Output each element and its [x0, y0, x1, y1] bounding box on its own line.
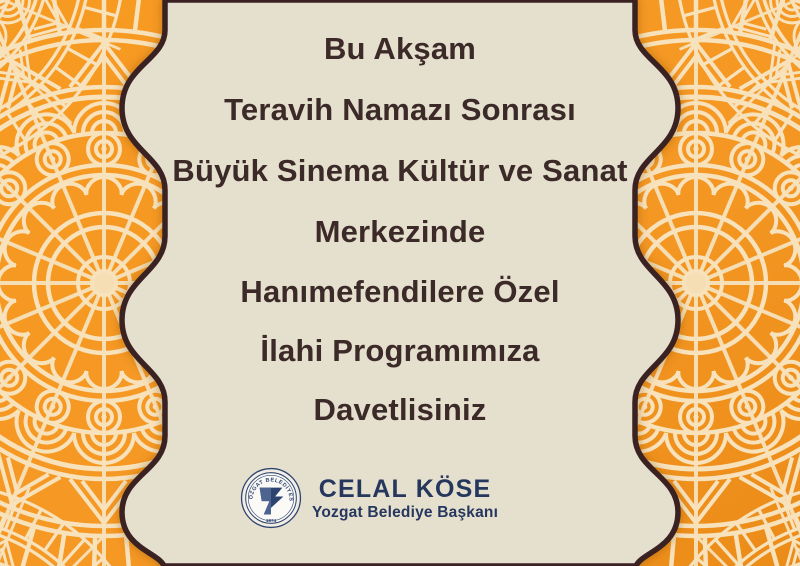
signature-name: CELAL KÖSE: [319, 476, 492, 502]
message-line-1: Bu Akşam: [110, 33, 690, 64]
poster-canvas: Bu Akşam Teravih Namazı Sonrası Büyük Si…: [0, 0, 800, 566]
message-content: Bu Akşam Teravih Namazı Sonrası Büyük Si…: [150, 0, 650, 566]
emblem-year: 1874: [266, 518, 277, 523]
message-line-4: Merkezinde: [110, 216, 690, 247]
yozgat-municipality-seal-icon: YOZGAT BELEDİYESİ 1874: [240, 467, 302, 529]
message-line-2: Teravih Namazı Sonrası: [110, 94, 690, 125]
message-line-3: Büyük Sinema Kültür ve Sanat: [110, 155, 690, 186]
message-line-5: Hanımefendilere Özel: [110, 276, 690, 307]
signature-title: Yozgat Belediye Başkanı: [312, 504, 498, 522]
signature-text: CELAL KÖSE Yozgat Belediye Başkanı: [312, 474, 498, 521]
signature-block: YOZGAT BELEDİYESİ 1874 CELAL KÖSE Yozgat…: [240, 461, 560, 535]
message-line-6: İlahi Programımıza: [110, 335, 690, 366]
message-line-7: Davetlisiniz: [110, 394, 690, 425]
